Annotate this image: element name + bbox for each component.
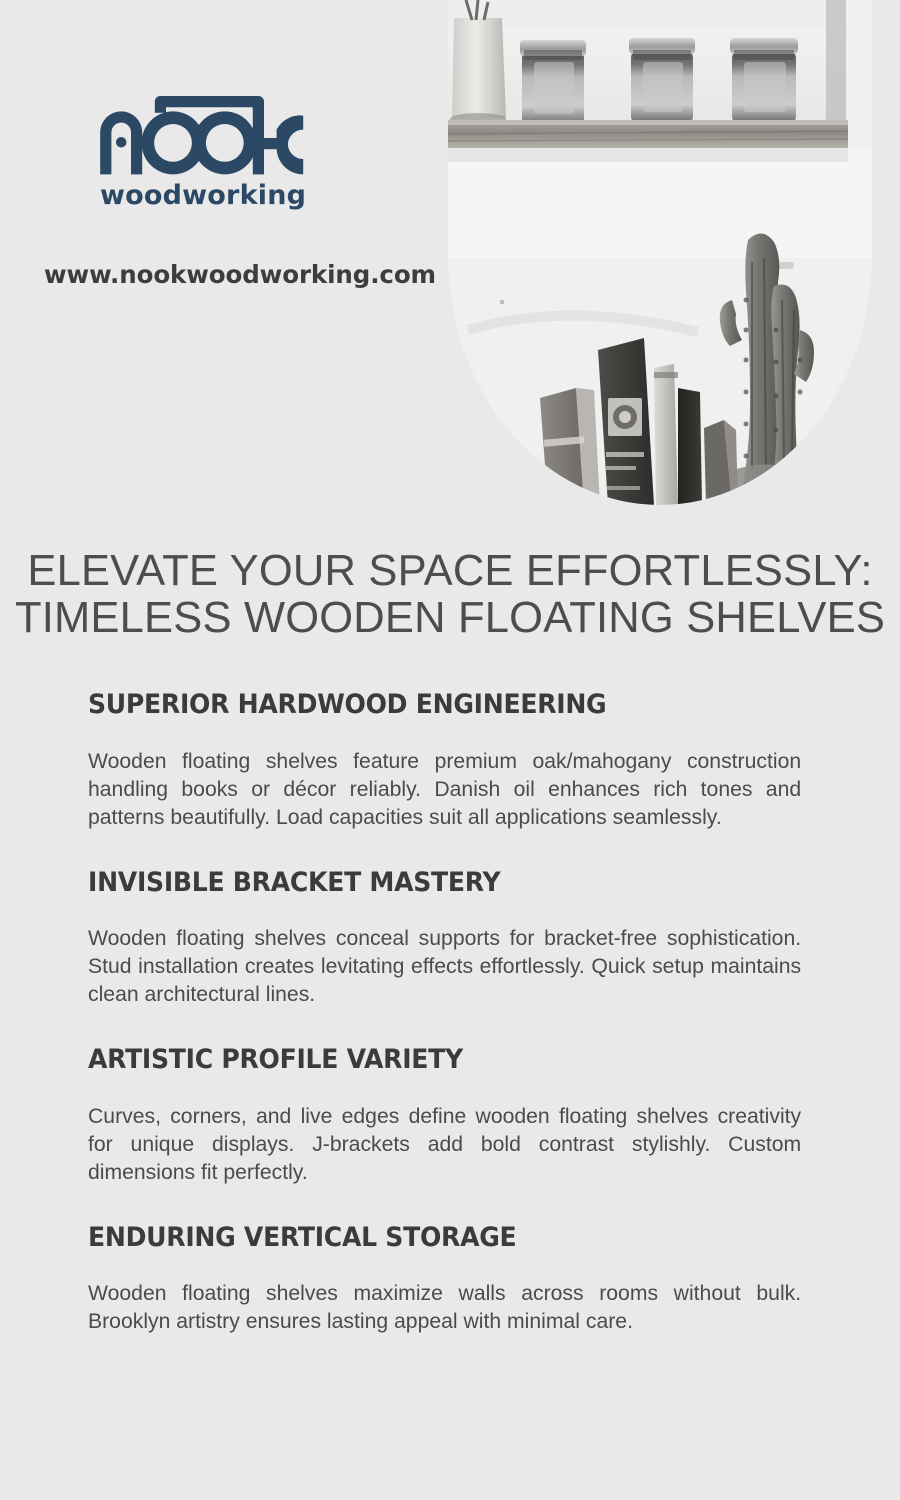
- hero-image: [448, 0, 872, 505]
- nook-logo-icon: [96, 96, 306, 176]
- section-item: ARTISTIC PROFILE VARIETY Curves, corners…: [88, 1045, 812, 1187]
- logo-subtitle: woodworking: [100, 182, 426, 209]
- section-body: Curves, corners, and live edges define w…: [88, 1103, 801, 1187]
- section-title: INVISIBLE BRACKET MASTERY: [88, 868, 761, 898]
- section-body: Wooden floating shelves maximize walls a…: [88, 1280, 801, 1336]
- section-body: Wooden floating shelves feature premium …: [88, 748, 801, 832]
- content-sections: SUPERIOR HARDWOOD ENGINEERING Wooden flo…: [88, 690, 812, 1342]
- brand-logo: woodworking: [96, 96, 426, 209]
- infographic-page: woodworking www.nookwoodworking.com: [0, 0, 900, 1500]
- section-title: ENDURING VERTICAL STORAGE: [88, 1223, 761, 1253]
- section-title: ARTISTIC PROFILE VARIETY: [88, 1045, 761, 1075]
- website-url[interactable]: www.nookwoodworking.com: [44, 260, 436, 289]
- section-item: SUPERIOR HARDWOOD ENGINEERING Wooden flo…: [88, 690, 812, 832]
- section-item: ENDURING VERTICAL STORAGE Wooden floatin…: [88, 1223, 812, 1337]
- section-title: SUPERIOR HARDWOOD ENGINEERING: [88, 690, 761, 720]
- section-body: Wooden floating shelves conceal supports…: [88, 925, 801, 1009]
- section-item: INVISIBLE BRACKET MASTERY Wooden floatin…: [88, 868, 812, 1010]
- page-title: ELEVATE YOUR SPACE EFFORTLESSLY: TIMELES…: [0, 548, 900, 641]
- header-section: woodworking www.nookwoodworking.com: [0, 0, 900, 512]
